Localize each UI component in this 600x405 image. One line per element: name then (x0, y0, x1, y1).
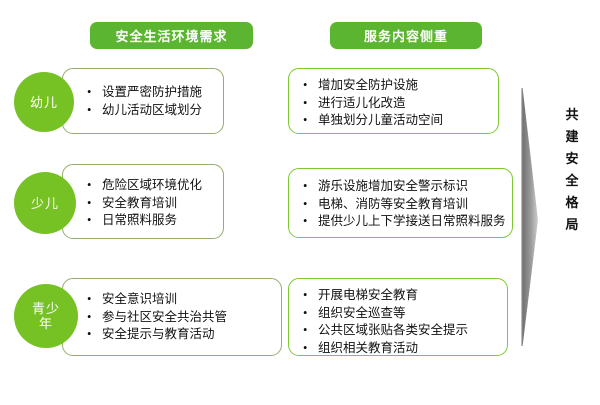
list-item-text: 增加安全防护设施 (318, 78, 418, 92)
stage-badge-label: 幼儿 (30, 95, 58, 110)
list-item-text: 组织相关教育活动 (318, 341, 418, 355)
list-item-text: 参与社区安全共治共管 (102, 310, 227, 324)
list-item-text: 安全提示与教育活动 (102, 327, 215, 341)
bullet-icon: • (303, 178, 307, 196)
bullet-icon: • (87, 326, 91, 344)
needs-list: •设置严密防护措施 •幼儿活动区域划分 (85, 84, 217, 119)
list-item-text: 安全教育培训 (102, 196, 177, 210)
bullet-icon: • (87, 291, 91, 309)
bullet-icon: • (87, 177, 91, 195)
stage-badge-label-line: 年 (32, 316, 60, 331)
stage-row: 幼儿 •设置严密防护措施 •幼儿活动区域划分 •增加安全防护设施 •进行适儿化改… (0, 68, 600, 136)
list-item-text: 日常照料服务 (102, 213, 177, 227)
list-item: •提供少儿上下学接送日常照料服务 (301, 213, 506, 231)
list-item: •电梯、消防等安全教育培训 (301, 196, 506, 214)
blade-arrow-icon (519, 88, 541, 346)
list-item: •日常照料服务 (85, 212, 217, 230)
list-item: •组织相关教育活动 (301, 340, 501, 358)
list-item: •参与社区安全共治共管 (85, 309, 275, 327)
stage-badge: 青少 年 (14, 284, 78, 348)
services-card: •增加安全防护设施 •进行适儿化改造 •单独划分儿童活动空间 (288, 68, 499, 134)
bullet-icon: • (303, 112, 307, 130)
bullet-icon: • (87, 309, 91, 327)
side-caption-char: 共 (558, 104, 586, 126)
list-item-text: 幼儿活动区域划分 (102, 103, 202, 117)
stage-badge: 少儿 (14, 172, 76, 234)
bullet-icon: • (303, 287, 307, 305)
stage-row: 少儿 •危险区域环境优化 •安全教育培训 •日常照料服务 •游乐设施增加安全警示… (0, 164, 600, 242)
stage-badge: 幼儿 (14, 72, 74, 132)
needs-list: •安全意识培训 •参与社区安全共治共管 •安全提示与教育活动 (85, 291, 275, 344)
bullet-icon: • (87, 102, 91, 120)
list-item-text: 公共区域张贴各类安全提示 (318, 323, 468, 337)
bullet-icon: • (87, 84, 91, 102)
bullet-icon: • (303, 77, 307, 95)
list-item: •公共区域张贴各类安全提示 (301, 322, 501, 340)
needs-card: •危险区域环境优化 •安全教育培训 •日常照料服务 (62, 164, 224, 239)
bullet-icon: • (303, 340, 307, 358)
list-item: •组织安全巡查等 (301, 305, 501, 323)
list-item-text: 电梯、消防等安全教育培训 (318, 197, 468, 211)
side-caption-char: 全 (558, 170, 586, 192)
list-item-text: 组织安全巡查等 (318, 306, 406, 320)
column-header-needs: 安全生活环境需求 (90, 22, 253, 49)
list-item: •增加安全防护设施 (301, 77, 492, 95)
list-item-text: 安全意识培训 (102, 292, 177, 306)
list-item-text: 进行适儿化改造 (318, 96, 406, 110)
list-item-text: 危险区域环境优化 (102, 178, 202, 192)
services-list: •增加安全防护设施 •进行适儿化改造 •单独划分儿童活动空间 (301, 77, 492, 130)
services-list: •开展电梯安全教育 •组织安全巡查等 •公共区域张贴各类安全提示 •组织相关教育… (301, 287, 501, 357)
list-item: •安全意识培训 (85, 291, 275, 309)
bullet-icon: • (303, 322, 307, 340)
list-item-text: 设置严密防护措施 (102, 85, 202, 99)
list-item-text: 单独划分儿童活动空间 (318, 113, 443, 127)
bullet-icon: • (303, 95, 307, 113)
list-item-text: 提供少儿上下学接送日常照料服务 (318, 214, 506, 228)
needs-list: •危险区域环境优化 •安全教育培训 •日常照料服务 (85, 177, 217, 230)
bullet-icon: • (303, 305, 307, 323)
list-item: •设置严密防护措施 (85, 84, 217, 102)
bullet-icon: • (87, 195, 91, 213)
column-header-services: 服务内容侧重 (330, 22, 482, 49)
side-caption-char: 局 (558, 214, 586, 236)
list-item: •开展电梯安全教育 (301, 287, 501, 305)
bullet-icon: • (303, 196, 307, 214)
side-caption-char: 建 (558, 126, 586, 148)
list-item: •幼儿活动区域划分 (85, 102, 217, 120)
diagram-canvas: 安全生活环境需求 服务内容侧重 幼儿 •设置严密防护措施 •幼儿活动区域划分 •… (0, 0, 600, 405)
stage-badge-label: 少儿 (31, 196, 59, 211)
side-caption-char: 安 (558, 148, 586, 170)
stage-row: 青少 年 •安全意识培训 •参与社区安全共治共管 •安全提示与教育活动 •开展电… (0, 278, 600, 358)
stage-badge-label: 青少 年 (32, 301, 60, 331)
list-item-text: 开展电梯安全教育 (318, 288, 418, 302)
services-card: •游乐设施增加安全警示标识 •电梯、消防等安全教育培训 •提供少儿上下学接送日常… (288, 168, 513, 238)
bullet-icon: • (303, 213, 307, 231)
list-item: •安全提示与教育活动 (85, 326, 275, 344)
services-card: •开展电梯安全教育 •组织安全巡查等 •公共区域张贴各类安全提示 •组织相关教育… (288, 278, 508, 356)
list-item: •单独划分儿童活动空间 (301, 112, 492, 130)
side-caption: 共 建 安 全 格 局 (558, 104, 586, 236)
list-item: •安全教育培训 (85, 195, 217, 213)
bullet-icon: • (87, 212, 91, 230)
stage-badge-label-line: 青少 (32, 301, 60, 316)
services-list: •游乐设施增加安全警示标识 •电梯、消防等安全教育培训 •提供少儿上下学接送日常… (301, 178, 506, 231)
needs-card: •安全意识培训 •参与社区安全共治共管 •安全提示与教育活动 (62, 278, 282, 356)
list-item-text: 游乐设施增加安全警示标识 (318, 179, 468, 193)
needs-card: •设置严密防护措施 •幼儿活动区域划分 (62, 68, 224, 134)
list-item: •进行适儿化改造 (301, 95, 492, 113)
side-caption-char: 格 (558, 192, 586, 214)
list-item: •游乐设施增加安全警示标识 (301, 178, 506, 196)
list-item: •危险区域环境优化 (85, 177, 217, 195)
